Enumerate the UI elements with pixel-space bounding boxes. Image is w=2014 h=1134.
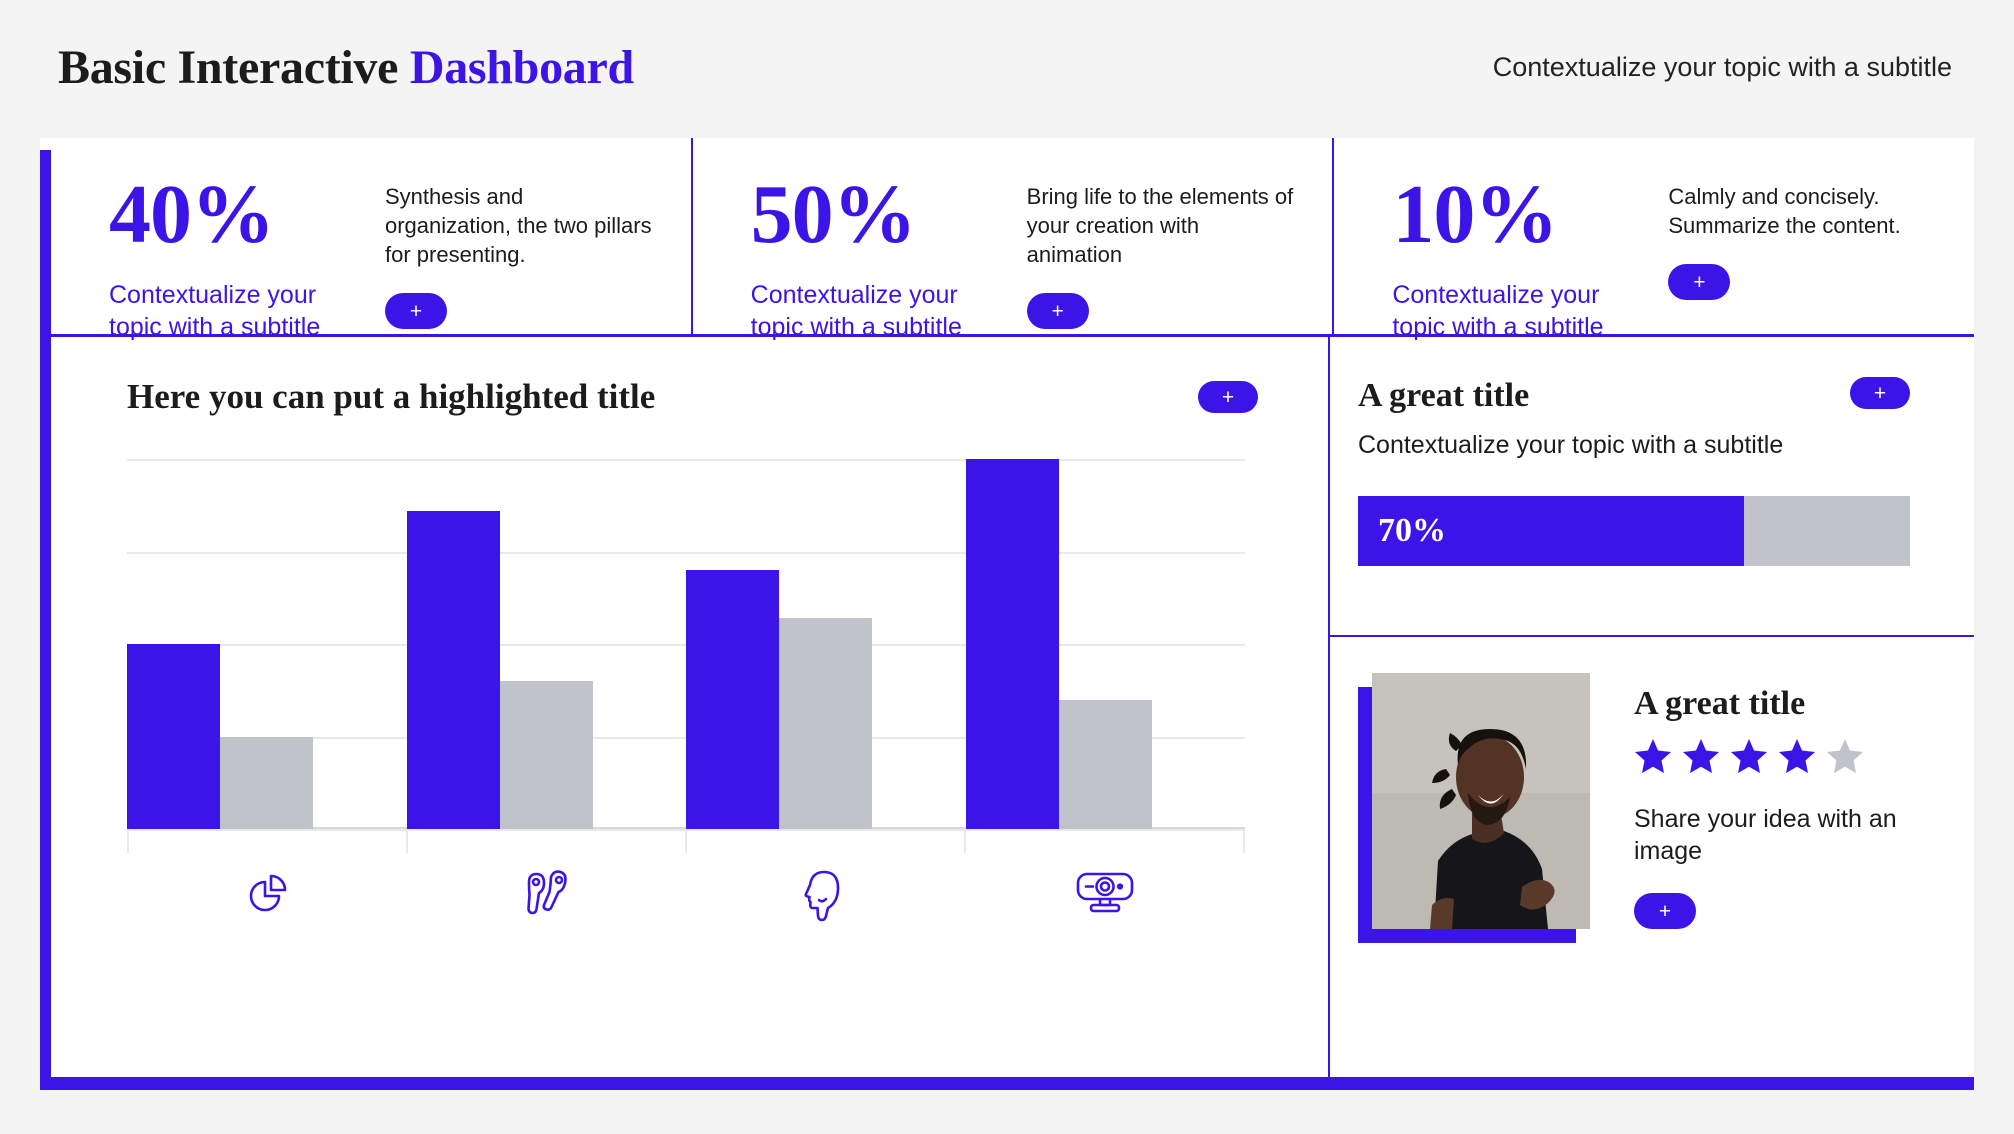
kpi-card-3-description: Calmly and concisely. Summarize the cont… — [1668, 182, 1938, 240]
kpi-card-2-add-button[interactable]: + — [1027, 293, 1089, 329]
webcam-icon — [966, 857, 1246, 931]
bar-group — [686, 459, 966, 829]
kpi-card-1-value: 40% — [109, 176, 359, 253]
kpi-card-1-description: Synthesis and organization, the two pill… — [385, 182, 655, 269]
kpi-card-1-right: Synthesis and organization, the two pill… — [385, 176, 655, 334]
star-filled-icon[interactable] — [1682, 737, 1720, 775]
lower-area: Here you can put a highlighted title + A… — [51, 337, 1974, 1077]
chart-tick — [685, 831, 964, 853]
progress-card: A great title + Contextualize your topic… — [1330, 337, 1974, 637]
earbuds-icon — [407, 857, 687, 931]
bar-secondary[interactable] — [1059, 700, 1152, 830]
chart-tick — [406, 831, 685, 853]
kpi-card-1-add-button[interactable]: + — [385, 293, 447, 329]
progress-bar-track[interactable]: 70% — [1358, 496, 1910, 566]
kpi-card-1-left: 40% Contextualize your topic with a subt… — [109, 176, 359, 334]
kpi-card-2-right: Bring life to the elements of your creat… — [1027, 176, 1297, 334]
bar-secondary[interactable] — [779, 618, 872, 829]
kpi-card-3-left: 10% Contextualize your topic with a subt… — [1392, 176, 1642, 334]
review-photo-wrapper — [1358, 673, 1590, 943]
right-column: A great title + Contextualize your topic… — [1328, 337, 1974, 1077]
star-filled-icon[interactable] — [1730, 737, 1768, 775]
bar-secondary[interactable] — [500, 681, 593, 829]
kpi-card-2: 50% Contextualize your topic with a subt… — [691, 138, 1333, 334]
chart-tick-row — [127, 831, 1245, 853]
chart-title: Here you can put a highlighted title — [127, 377, 655, 417]
progress-bar-fill: 70% — [1358, 496, 1744, 566]
kpi-card-2-description: Bring life to the elements of your creat… — [1027, 182, 1297, 269]
bar-secondary[interactable] — [220, 737, 313, 830]
bar-primary[interactable] — [686, 570, 779, 829]
kpi-card-2-left: 50% Contextualize your topic with a subt… — [751, 176, 1001, 334]
bar-group — [407, 459, 687, 829]
panel-accent-left-bar — [40, 150, 51, 1090]
progress-card-add-button[interactable]: + — [1850, 377, 1910, 409]
kpi-card-3-right: Calmly and concisely. Summarize the cont… — [1668, 176, 1938, 334]
review-card: A great title Share your idea with an im… — [1330, 637, 1974, 943]
progress-card-header: A great title + — [1358, 377, 1910, 415]
chart-tick — [964, 831, 1245, 853]
rating-stars[interactable] — [1634, 737, 1934, 775]
page-title-main: Basic Interactive — [58, 41, 410, 94]
review-body: A great title Share your idea with an im… — [1634, 673, 1934, 943]
page-title: Basic Interactive Dashboard — [58, 40, 634, 95]
page-subtitle: Contextualize your topic with a subtitle — [1493, 52, 1952, 83]
kpi-card-3-add-button[interactable]: + — [1668, 264, 1730, 300]
page-header: Basic Interactive Dashboard Contextualiz… — [0, 0, 2014, 134]
star-filled-icon[interactable] — [1778, 737, 1816, 775]
pie-chart-icon — [127, 857, 407, 931]
head-profile-icon — [686, 857, 966, 931]
review-card-title: A great title — [1634, 685, 1934, 723]
chart-header: Here you can put a highlighted title + — [127, 377, 1258, 417]
star-filled-icon[interactable] — [1634, 737, 1672, 775]
bar-group — [966, 459, 1246, 829]
review-card-add-button[interactable]: + — [1634, 893, 1696, 929]
star-empty-icon[interactable] — [1826, 737, 1864, 775]
kpi-row: 40% Contextualize your topic with a subt… — [51, 138, 1974, 334]
chart-category-icons — [127, 857, 1245, 931]
progress-card-subtitle: Contextualize your topic with a subtitle — [1358, 431, 1910, 460]
dashboard-page: Basic Interactive Dashboard Contextualiz… — [0, 0, 2014, 1134]
chart-panel: Here you can put a highlighted title + — [51, 337, 1328, 1077]
bar-primary[interactable] — [407, 511, 500, 829]
panel-accent-bottom-bar — [40, 1077, 1974, 1090]
chart-plot-area — [127, 459, 1245, 829]
progress-bar-label: 70% — [1378, 512, 1446, 550]
review-photo — [1372, 673, 1590, 929]
kpi-card-3-value: 10% — [1392, 176, 1642, 253]
dashboard-panel: 40% Contextualize your topic with a subt… — [40, 138, 1974, 1090]
chart-tick — [127, 831, 406, 853]
chart-add-button[interactable]: + — [1198, 381, 1258, 413]
progress-card-title: A great title — [1358, 377, 1529, 415]
kpi-card-1: 40% Contextualize your topic with a subt… — [51, 138, 691, 334]
bar-primary[interactable] — [127, 644, 220, 829]
page-title-accent: Dashboard — [410, 41, 634, 94]
review-card-text: Share your idea with an image — [1634, 803, 1934, 867]
kpi-card-3: 10% Contextualize your topic with a subt… — [1332, 138, 1974, 334]
bar-primary[interactable] — [966, 459, 1059, 829]
bar-chart — [127, 459, 1245, 829]
bar-group — [127, 459, 407, 829]
kpi-card-2-value: 50% — [751, 176, 1001, 253]
